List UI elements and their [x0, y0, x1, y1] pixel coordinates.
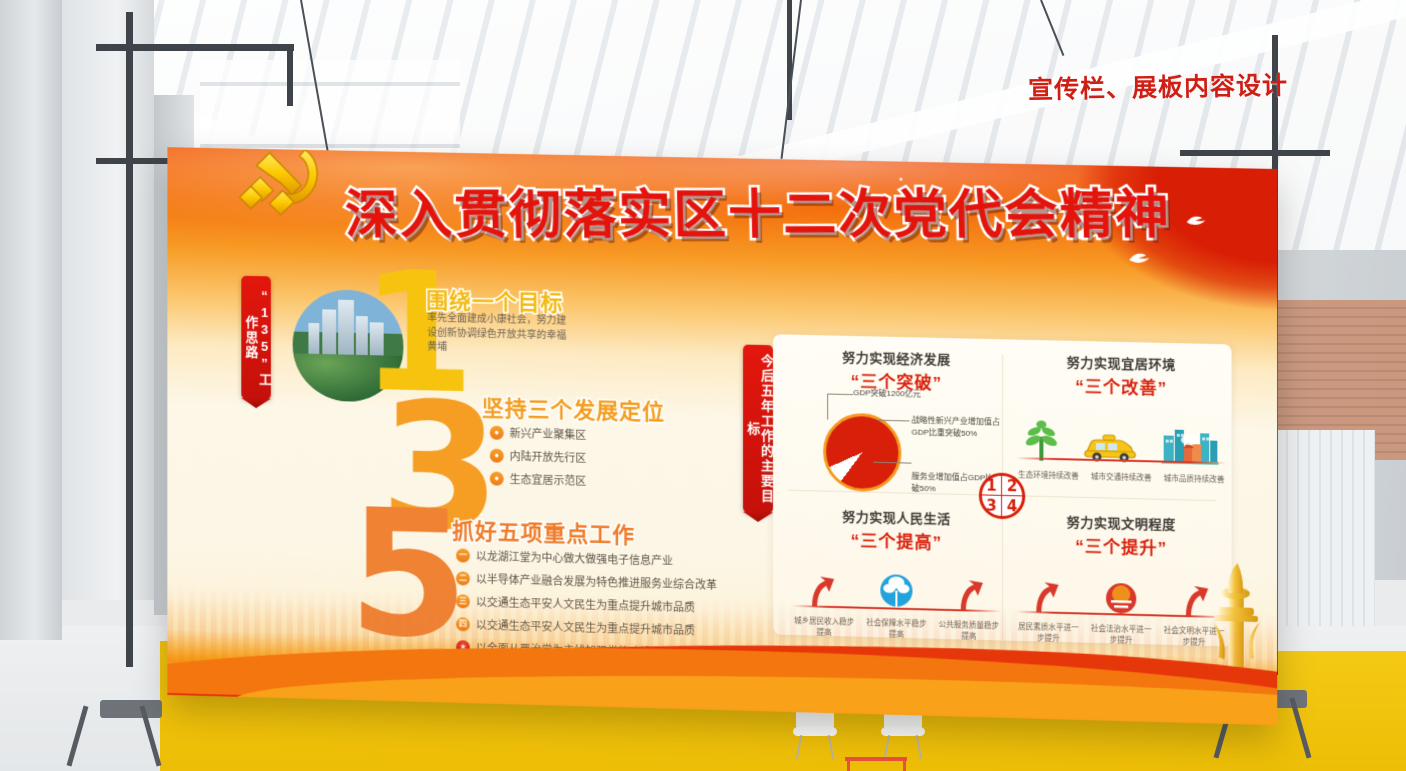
- building-shape: [308, 323, 319, 355]
- pillar-left-outer: [0, 0, 62, 640]
- dove-icon: [1128, 251, 1150, 267]
- list-item-label: 以半导体产业融合发展为特色推进服务业综合改革: [476, 571, 717, 593]
- block-3-heading: 坚持三个发展定位: [482, 391, 665, 427]
- list-item: ● 新兴产业聚集区: [490, 425, 586, 443]
- caption: 城市交通持续改善: [1090, 472, 1153, 484]
- caption: 生态环境持续改善: [1017, 470, 1080, 482]
- list-item-label: 生态宜居示范区: [510, 471, 587, 489]
- tripod-foot-left: [100, 700, 162, 718]
- side-table-leg-r: [903, 759, 906, 771]
- list-item: ● 内陆开放先行区: [490, 448, 586, 466]
- badge-135-work-plan: “135”工作思路: [241, 276, 271, 400]
- banner-title: 深入贯彻落实区十二次党代会精神: [344, 172, 1166, 248]
- list-item-label: 新兴产业聚集区: [510, 425, 587, 443]
- tree-icon: [1024, 420, 1058, 461]
- section-title-secondary: “三个提升”: [1012, 530, 1230, 561]
- truss-beam-right: [1180, 150, 1330, 156]
- badge-quadrant: 1: [982, 475, 1002, 496]
- block-1-subtext: 率先全面建成小康社会，努力建设创新协调绿色开放共享的幸福黄埔: [427, 312, 574, 359]
- truss-post-left: [126, 12, 133, 667]
- bullet-icon: 一: [456, 548, 470, 562]
- list-item-label: 内陆开放先行区: [510, 448, 587, 466]
- section-livable-environment: 努力实现宜居环境 “三个改善”: [1012, 351, 1230, 486]
- cityscape-icon: [1162, 423, 1219, 465]
- banner-title-wrap: 深入贯彻落实区十二次党代会精神: [344, 172, 1166, 248]
- bullet-icon: ●: [490, 426, 504, 440]
- pie-label-text: 战略性新兴产业增加值占GDP比重突破50%: [911, 415, 1000, 438]
- caption: 城市品质持续改善: [1163, 474, 1226, 486]
- block-3-items: ● 新兴产业聚集区 ● 内陆开放先行区 ● 生态宜居示范区: [490, 425, 586, 496]
- dove-icon: [1186, 214, 1206, 229]
- list-item: 一 以龙湖江堂为中心做大做强电子信息产业: [456, 547, 717, 570]
- building-shape: [322, 309, 336, 355]
- section-title-secondary: “三个提高”: [788, 525, 1005, 555]
- list-item-label: 以龙湖江堂为中心做大做强电子信息产业: [476, 548, 673, 569]
- pie-label-emerging-industry: 战略性新兴产业增加值占GDP比重突破50%: [911, 414, 1012, 441]
- side-table-leg-l: [847, 759, 850, 771]
- scene-photo-mockup: 宣传栏、展板内容设计: [0, 0, 1406, 771]
- pie-label-gdp: GDP突破1200亿元: [853, 387, 920, 401]
- gdp-pie-chart: [823, 412, 901, 492]
- leader-line-vert: [827, 394, 828, 420]
- side-table: [845, 757, 907, 761]
- block-5-heading: 抓好五项重点工作: [452, 513, 635, 549]
- bullet-icon: ●: [490, 449, 504, 463]
- pillar-left-inner: [62, 0, 154, 600]
- watermark-text: 宣传栏、展板内容设计: [1028, 66, 1289, 107]
- display-board-banner: 深入贯彻落实区十二次党代会精神 “135”工作思路 1 围绕一个目标 率先全面建…: [167, 147, 1277, 725]
- hammer-sickle-emblem-icon: [228, 147, 331, 228]
- list-item: 二 以半导体产业融合发展为特色推进服务业综合改革: [456, 570, 717, 593]
- bullet-icon: 二: [456, 571, 470, 585]
- bullet-icon: ●: [490, 471, 504, 485]
- section-title-secondary: “三个改善”: [1012, 371, 1230, 401]
- badge-quadrant: 2: [1002, 476, 1022, 497]
- hanger-post-left: [287, 46, 293, 106]
- building-shape: [338, 300, 354, 356]
- list-item: ● 生态宜居示范区: [490, 470, 586, 488]
- badge-five-year-goals: 今后五年工作的主要目标: [743, 345, 773, 514]
